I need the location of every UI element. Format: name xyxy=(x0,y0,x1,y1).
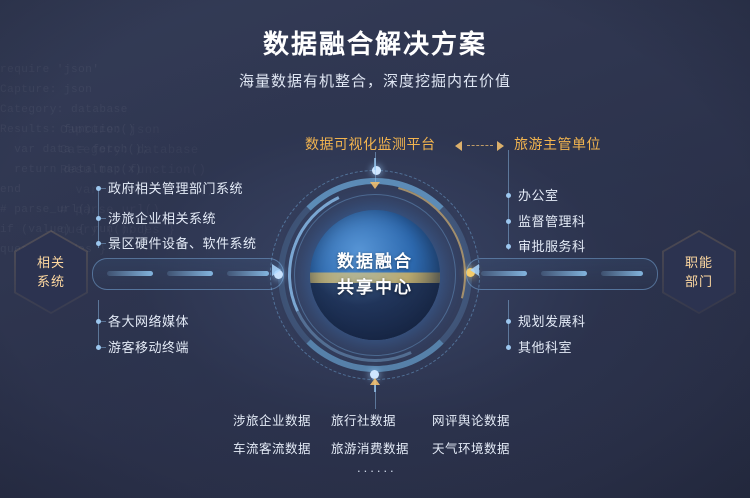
arrow-left-icon xyxy=(455,141,462,151)
page-subtitle: 海量数据有机整合，深度挖掘内在价值 xyxy=(0,70,750,91)
bottom-item-1-0: 车流客流数据 xyxy=(233,438,311,457)
label-visualization-platform: 数据可视化监测平台 xyxy=(305,134,436,154)
pipe-right-seg-2 xyxy=(541,271,587,276)
pipe-left-seg-1 xyxy=(107,271,153,276)
pipe-arrow-right-icon xyxy=(272,264,281,276)
connector-left-bottom xyxy=(98,300,99,348)
arrow-right-icon xyxy=(497,141,504,151)
diagram-canvas: require 'json' Capture: json Category: d… xyxy=(0,0,750,498)
tick-left-bottom-1 xyxy=(98,347,106,348)
right-bottom-item-1: 其他科室 xyxy=(518,337,572,356)
hex-left-line1: 相关 xyxy=(37,253,65,272)
left-bottom-item-1: 游客移动终端 xyxy=(108,337,189,356)
arrow-up-icon-bottom xyxy=(370,378,380,385)
bottom-ellipsis: ...... xyxy=(357,460,397,475)
data-pipe-left xyxy=(92,258,284,290)
left-top-item-1: 涉旅企业相关系统 xyxy=(108,208,216,227)
pipe-left-seg-3 xyxy=(227,271,269,276)
connector-bottom-center xyxy=(375,385,376,409)
bottom-item-1-2: 天气环境数据 xyxy=(432,438,510,457)
connector-right-bottom xyxy=(508,300,509,348)
left-top-item-2: 景区硬件设备、软件系统 xyxy=(108,233,257,252)
core-label-line2: 共享中心 xyxy=(337,275,413,301)
core-label: 数据融合 共享中心 xyxy=(310,210,440,340)
bottom-item-0-2: 网评舆论数据 xyxy=(432,410,510,429)
arrow-down-icon-top xyxy=(370,182,380,189)
pipe-left-seg-2 xyxy=(167,271,213,276)
bottom-item-0-0: 涉旅企业数据 xyxy=(233,410,311,429)
connector-right-top xyxy=(508,150,509,250)
hex-functional-departments: 职能 部门 xyxy=(662,230,736,314)
right-top-item-0: 办公室 xyxy=(518,185,559,204)
hex-right-line1: 职能 xyxy=(685,253,713,272)
data-pipe-right xyxy=(466,258,658,290)
hex-left-line2: 系统 xyxy=(37,272,65,291)
left-bottom-item-0: 各大网络媒体 xyxy=(108,311,189,330)
bottom-item-1-1: 旅游消费数据 xyxy=(331,438,409,457)
dash-connector-top xyxy=(467,145,493,146)
pipe-right-seg-1 xyxy=(481,271,527,276)
tick-left-top-0 xyxy=(98,188,106,189)
right-top-item-2: 审批服务科 xyxy=(518,236,586,255)
right-bottom-item-0: 规划发展科 xyxy=(518,311,586,330)
bottom-item-0-1: 旅行社数据 xyxy=(331,410,396,429)
pipe-arrow-left-icon xyxy=(470,264,479,276)
core-label-line1: 数据融合 xyxy=(337,249,413,275)
tick-left-bottom-0 xyxy=(98,321,106,322)
page-title: 数据融合解决方案 xyxy=(0,24,750,61)
pipe-right-seg-3 xyxy=(601,271,643,276)
label-tourism-authority: 旅游主管单位 xyxy=(514,134,601,154)
tick-left-top-1 xyxy=(98,218,106,219)
right-top-item-1: 监督管理科 xyxy=(518,211,586,230)
tick-left-top-2 xyxy=(98,243,106,244)
center-hub: 数据融合 共享中心 xyxy=(270,170,480,380)
connector-top-center xyxy=(375,152,376,182)
left-top-item-0: 政府相关管理部门系统 xyxy=(108,178,243,197)
hex-right-line2: 部门 xyxy=(685,272,713,291)
hex-related-systems: 相关 系统 xyxy=(14,230,88,314)
